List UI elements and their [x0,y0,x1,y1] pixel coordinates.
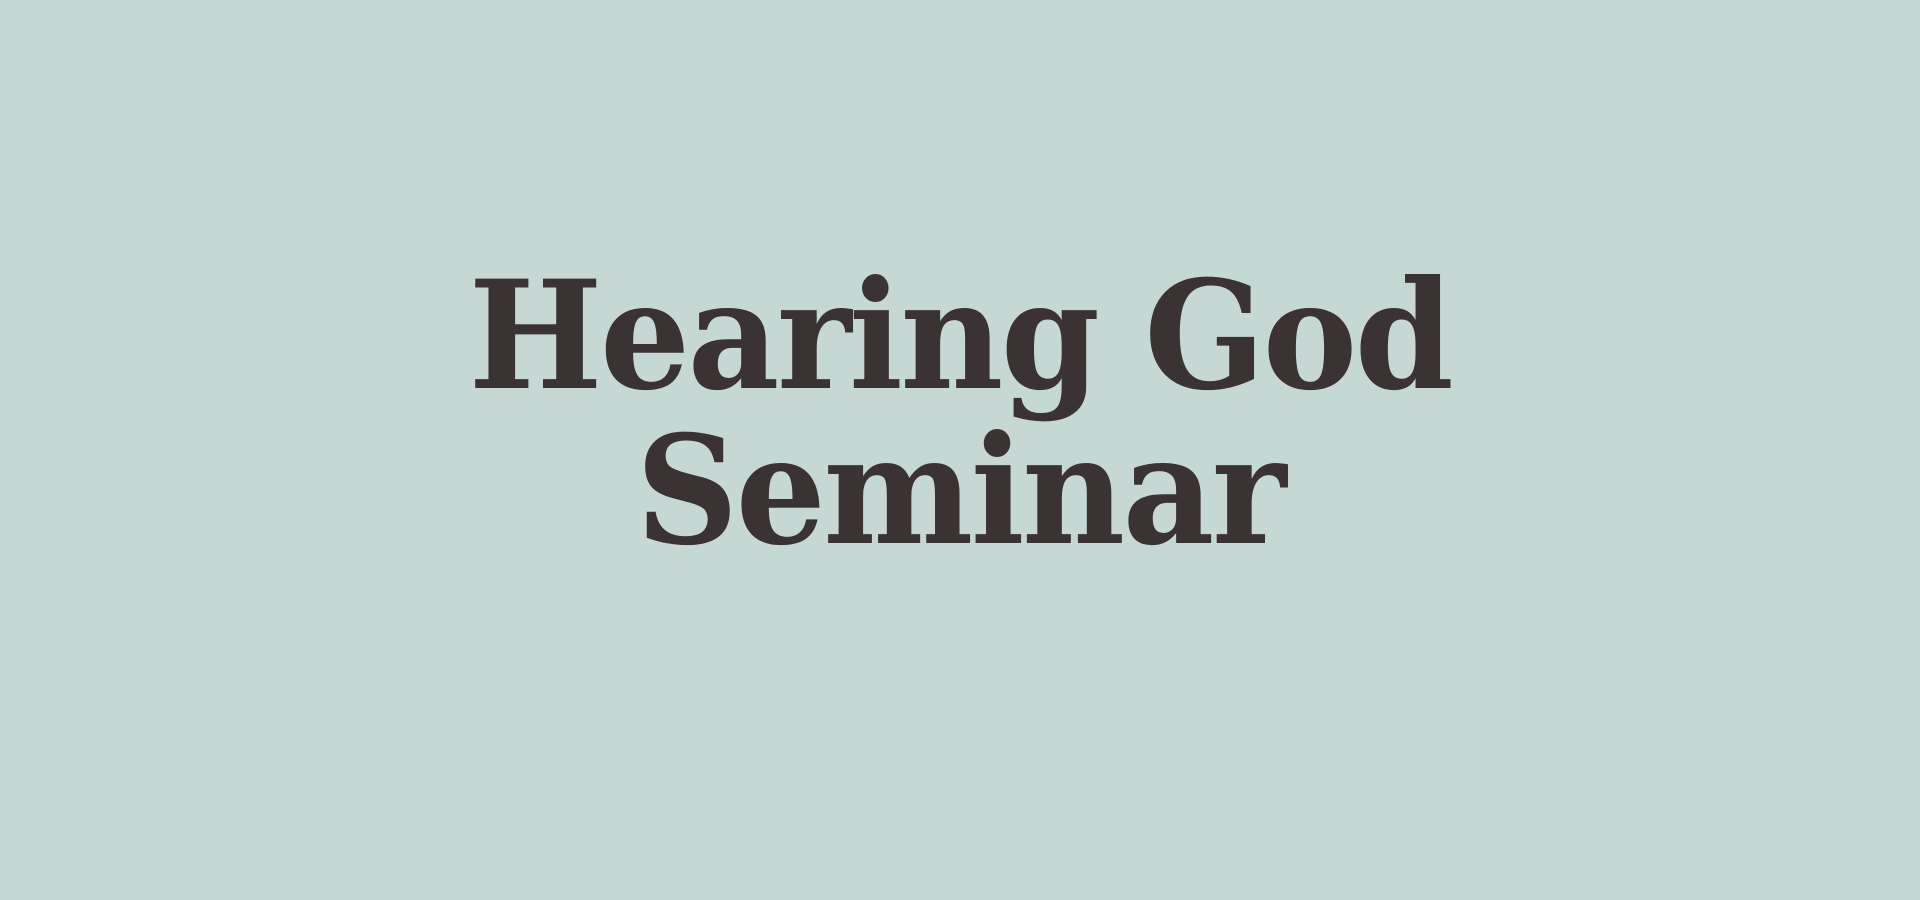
page-title: Hearing God Seminar [440,260,1480,568]
headline-line-1: Hearing God [469,260,1452,413]
title-card: Hearing God Seminar [0,0,1920,900]
headline-line-2: Seminar [469,415,1452,568]
